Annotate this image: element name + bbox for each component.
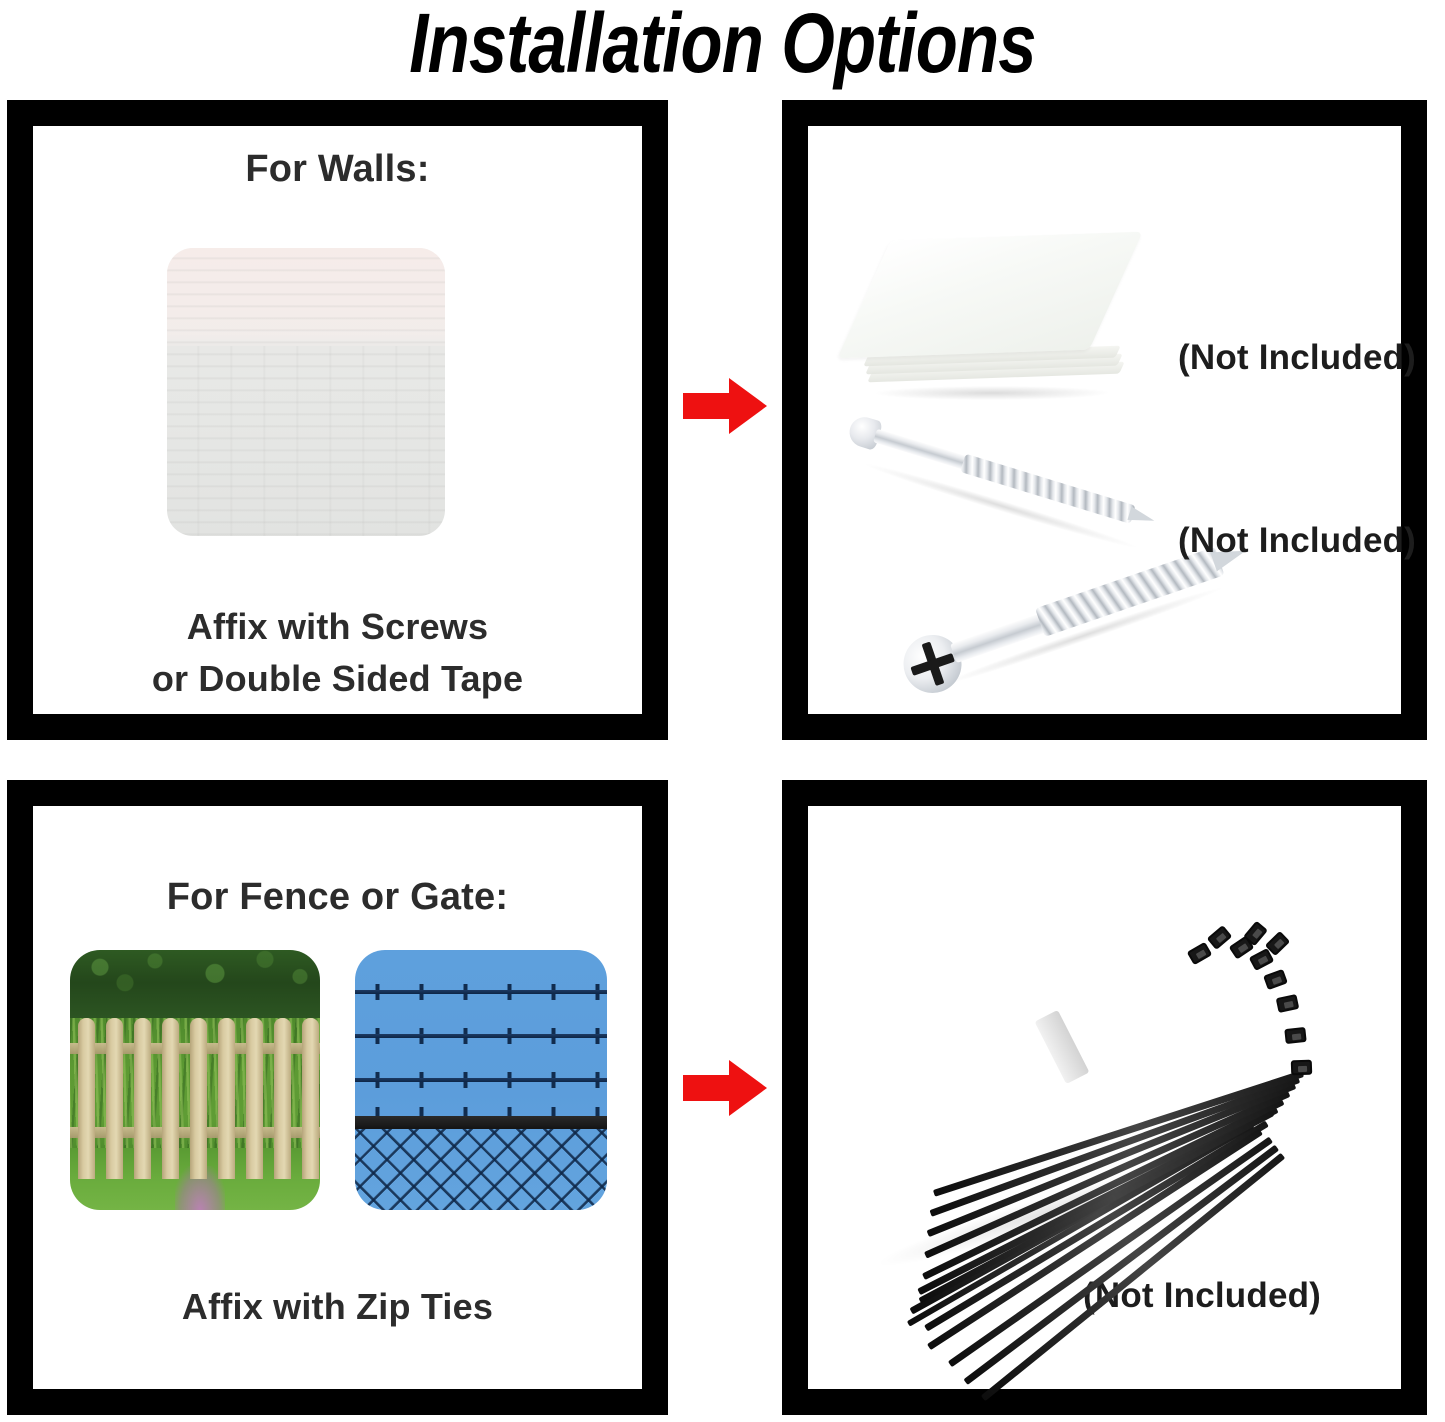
fence-top-rail (355, 1116, 607, 1129)
zip-tie-bundle-band (1035, 1010, 1090, 1084)
barbed-wire-strand (355, 1078, 607, 1082)
zip-tie-head (1276, 994, 1300, 1013)
fence-heading: For Fence or Gate: (33, 876, 642, 919)
screw-thread (960, 454, 1136, 524)
chain-link-mesh (355, 1129, 607, 1210)
fence-picket (218, 1018, 235, 1179)
screws-not-included-label: (Not Included) (1178, 521, 1416, 561)
barbed-wire-strand (355, 1034, 607, 1038)
zip-tie-head (1187, 942, 1213, 965)
white-brick-wall-image (167, 248, 445, 536)
walls-heading: For Walls: (33, 148, 642, 191)
fence-caption: Affix with Zip Ties (33, 1286, 642, 1328)
screw-shank (873, 429, 973, 472)
panel-hardware-not-included: (Not Included) (Not Included) (782, 100, 1427, 740)
zip-tie-head (1291, 1060, 1313, 1076)
barbed-wire-strand (355, 990, 607, 994)
zip-tie-head (1263, 969, 1288, 990)
fence-picket (274, 1018, 291, 1179)
fence-picket (190, 1018, 207, 1179)
barbed-wire-chain-link-fence-photo (355, 950, 607, 1210)
hedge-texture (70, 950, 320, 1028)
tape-shadow (873, 386, 1112, 400)
right-arrow-icon-top (683, 376, 767, 436)
panel-for-walls: For Walls: Affix with Screws or Double S… (7, 100, 668, 740)
tape-top-sheet (837, 232, 1142, 359)
double-sided-tape-stack-image (866, 236, 1131, 411)
fence-picket (162, 1018, 179, 1179)
fence-picket (302, 1018, 319, 1179)
black-zip-ties-bundle-image (853, 900, 1313, 1290)
wall-brick-stagger (167, 346, 445, 536)
page-title: Installation Options (130, 0, 1315, 92)
zip-tie-head (1284, 1027, 1306, 1044)
right-arrow-icon-bottom (683, 1058, 767, 1118)
fence-picket (78, 1018, 95, 1179)
wooden-picket-fence-photo (70, 950, 320, 1210)
tape-not-included-label: (Not Included) (1178, 338, 1416, 378)
screw-head-phillips (896, 627, 970, 701)
walls-caption-line-1: Affix with Screws (33, 606, 642, 648)
screw-tip (1127, 506, 1156, 527)
fence-picket (246, 1018, 263, 1179)
picket-group (70, 1018, 320, 1179)
installation-options-infographic: Installation Options For Walls: Affix wi… (0, 0, 1445, 1422)
walls-caption-line-2: or Double Sided Tape (33, 658, 642, 700)
fence-picket (134, 1018, 151, 1179)
fence-picket (106, 1018, 123, 1179)
